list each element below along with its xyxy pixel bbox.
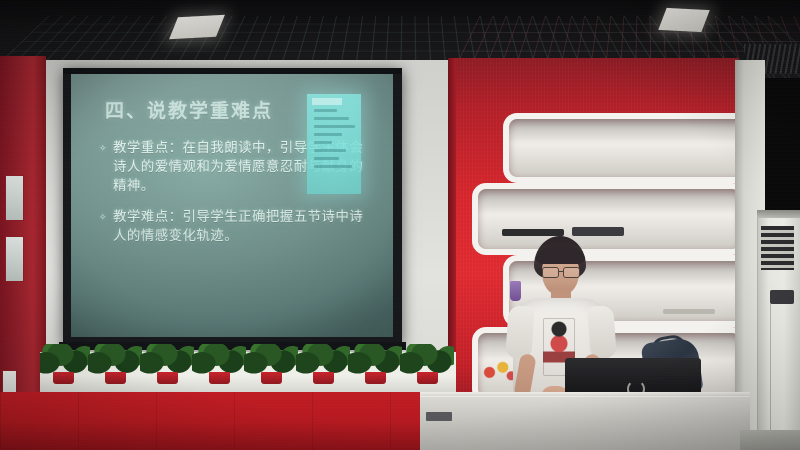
plant-pot: [105, 372, 126, 384]
shelf-object-light-bar: [663, 309, 715, 314]
osd-menu-item[interactable]: [314, 165, 352, 168]
plant-pot: [365, 372, 386, 384]
potted-plant: [400, 344, 454, 384]
projection-screen-surface: 四、说教学重难点 ✧ 教学重点：在自我朗读中，引导学生体会诗人的爱情观和为爱情愿…: [71, 74, 393, 337]
projector-osd-menu[interactable]: [307, 94, 361, 194]
bullet-marker-icon: ✧: [99, 213, 108, 222]
plant-foliage: [348, 344, 402, 375]
plant-foliage: [296, 344, 350, 375]
eyeglass-lens-right: [563, 267, 580, 278]
air-conditioner-display[interactable]: [770, 290, 794, 304]
potted-plant: [192, 344, 246, 384]
plant-pot: [53, 372, 74, 384]
eyeglasses-icon: [541, 267, 581, 276]
podium-name-plate: [426, 412, 452, 421]
presenter-sleeve-right: [587, 305, 617, 359]
slide-bullet-item: ✧ 教学难点：引导学生正确把握五节诗中诗人的情感变化轨迹。: [99, 208, 375, 246]
plant-foliage: [400, 344, 454, 375]
osd-menu-item[interactable]: [314, 133, 342, 136]
plant-pot: [313, 372, 334, 384]
osd-menu-item[interactable]: [314, 117, 349, 120]
floor-strip: [740, 430, 800, 450]
plant-foliage: [244, 344, 298, 375]
shelf-niche-1: [503, 113, 746, 183]
plant-foliage: [192, 344, 246, 375]
presenter-sleeve-left: [505, 305, 535, 359]
red-ledge-base: [0, 392, 456, 450]
osd-menu-title-bar: [312, 98, 342, 105]
shelf-object-remote: [572, 227, 624, 236]
shelf-shadow: [509, 119, 746, 177]
ceiling-light-left-icon: [169, 15, 225, 39]
osd-menu-item[interactable]: [314, 125, 355, 128]
classroom-scene-photo: 四、说教学重难点 ✧ 教学重点：在自我朗读中，引导学生体会诗人的爱情观和为爱情愿…: [0, 0, 800, 450]
red-ledge-panel-lines: [0, 392, 456, 450]
osd-menu-item[interactable]: [314, 141, 332, 144]
plant-pot: [417, 372, 438, 384]
bullet-marker-icon: ✧: [99, 144, 108, 153]
potted-plant: [40, 344, 90, 384]
potted-plant: [244, 344, 298, 384]
potted-plant: [140, 344, 194, 384]
air-conditioner-seam: [770, 304, 771, 450]
column-inset-lower: [5, 236, 24, 282]
plant-foliage: [140, 344, 194, 375]
plant-foliage: [40, 344, 90, 375]
plant-pot: [209, 372, 230, 384]
podium-desk: [420, 396, 750, 450]
shelf-object-dark-box: [502, 229, 564, 236]
plant-foliage: [88, 344, 142, 375]
ceiling-light-right-icon: [658, 8, 710, 32]
potted-plant: [88, 344, 142, 384]
presenter-hair-fringe: [536, 246, 585, 264]
plant-pot: [261, 372, 282, 384]
potted-plant: [296, 344, 350, 384]
osd-menu-item[interactable]: [314, 149, 346, 152]
osd-menu-item[interactable]: [314, 109, 337, 112]
projection-screen-frame: 四、说教学重难点 ✧ 教学重点：在自我朗读中，引导学生体会诗人的爱情观和为爱情愿…: [63, 68, 402, 346]
osd-menu-item[interactable]: [314, 157, 339, 160]
eyeglass-lens-left: [542, 267, 559, 278]
potted-plant: [348, 344, 402, 384]
slide-bullet-text: 教学难点：引导学生正确把握五节诗中诗人的情感变化轨迹。: [113, 208, 365, 246]
potted-plant-row: [40, 344, 456, 390]
air-conditioner-vents: [761, 226, 794, 270]
column-inset-upper: [5, 175, 24, 221]
plant-pot: [157, 372, 178, 384]
